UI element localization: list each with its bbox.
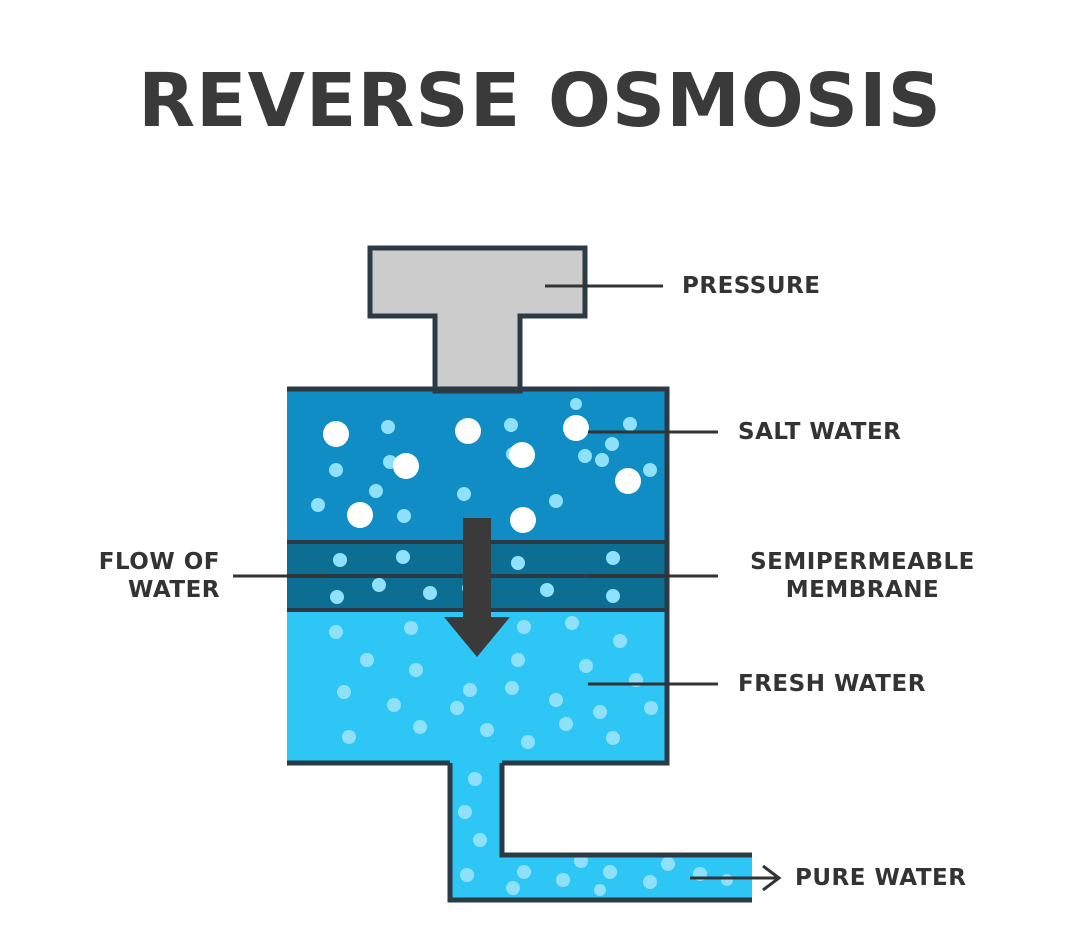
particle xyxy=(450,701,464,715)
particle xyxy=(556,873,570,887)
particle xyxy=(413,720,427,734)
particle xyxy=(393,453,419,479)
particle xyxy=(409,663,423,677)
particle xyxy=(387,698,401,712)
particle xyxy=(540,583,554,597)
particle xyxy=(311,498,325,512)
particle xyxy=(661,857,675,871)
particle xyxy=(329,463,343,477)
particle xyxy=(455,418,481,444)
particle xyxy=(360,653,374,667)
particle xyxy=(517,865,531,879)
particle xyxy=(511,653,525,667)
particle xyxy=(323,421,349,447)
particle xyxy=(473,833,487,847)
particle xyxy=(606,589,620,603)
particle xyxy=(579,659,593,673)
particle xyxy=(603,865,617,879)
particle xyxy=(509,442,535,468)
particle xyxy=(504,418,518,432)
piston-shape xyxy=(370,248,585,391)
particle xyxy=(721,874,733,886)
particle xyxy=(570,398,582,410)
particle xyxy=(333,553,347,567)
particle xyxy=(372,578,386,592)
particle xyxy=(517,620,531,634)
particle xyxy=(404,621,418,635)
particle xyxy=(643,875,657,889)
particle xyxy=(463,683,477,697)
particle xyxy=(381,420,395,434)
particle xyxy=(563,415,589,441)
particle xyxy=(644,701,658,715)
particle xyxy=(510,507,536,533)
particle xyxy=(423,586,437,600)
particle xyxy=(605,437,619,451)
particle xyxy=(606,731,620,745)
particle xyxy=(460,868,474,882)
particle xyxy=(594,884,606,896)
particle xyxy=(330,590,344,604)
label-fresh-water: FRESH WATER xyxy=(738,670,926,698)
particle xyxy=(480,723,494,737)
particle xyxy=(565,616,579,630)
label-flow-of-water: FLOW OF WATER xyxy=(60,548,220,604)
particle xyxy=(342,730,356,744)
particle xyxy=(369,484,383,498)
diagram-illustration xyxy=(0,0,1080,946)
label-salt-water: SALT WATER xyxy=(738,418,901,446)
particle xyxy=(457,487,471,501)
particle xyxy=(329,625,343,639)
particle xyxy=(337,685,351,699)
particle xyxy=(623,417,637,431)
particle xyxy=(578,449,592,463)
particle xyxy=(549,693,563,707)
particle xyxy=(397,509,411,523)
particle xyxy=(396,550,410,564)
label-semipermeable-membrane: SEMIPERMEABLE MEMBRANE xyxy=(735,548,990,604)
particle xyxy=(458,805,472,819)
reverse-osmosis-diagram: REVERSE OSMOSIS xyxy=(0,0,1080,946)
particle xyxy=(549,494,563,508)
particle xyxy=(506,881,520,895)
particle xyxy=(505,681,519,695)
particle xyxy=(559,717,573,731)
particle xyxy=(468,772,482,786)
particle xyxy=(595,453,609,467)
particle xyxy=(643,463,657,477)
label-pure-water: PURE WATER xyxy=(795,864,966,892)
pressure-piston xyxy=(370,248,585,391)
particle xyxy=(606,551,620,565)
particle xyxy=(615,468,641,494)
label-pressure: PRESSURE xyxy=(682,272,820,300)
particle xyxy=(593,705,607,719)
particle xyxy=(613,634,627,648)
particle xyxy=(521,735,535,749)
particle xyxy=(347,502,373,528)
particle xyxy=(511,556,525,570)
